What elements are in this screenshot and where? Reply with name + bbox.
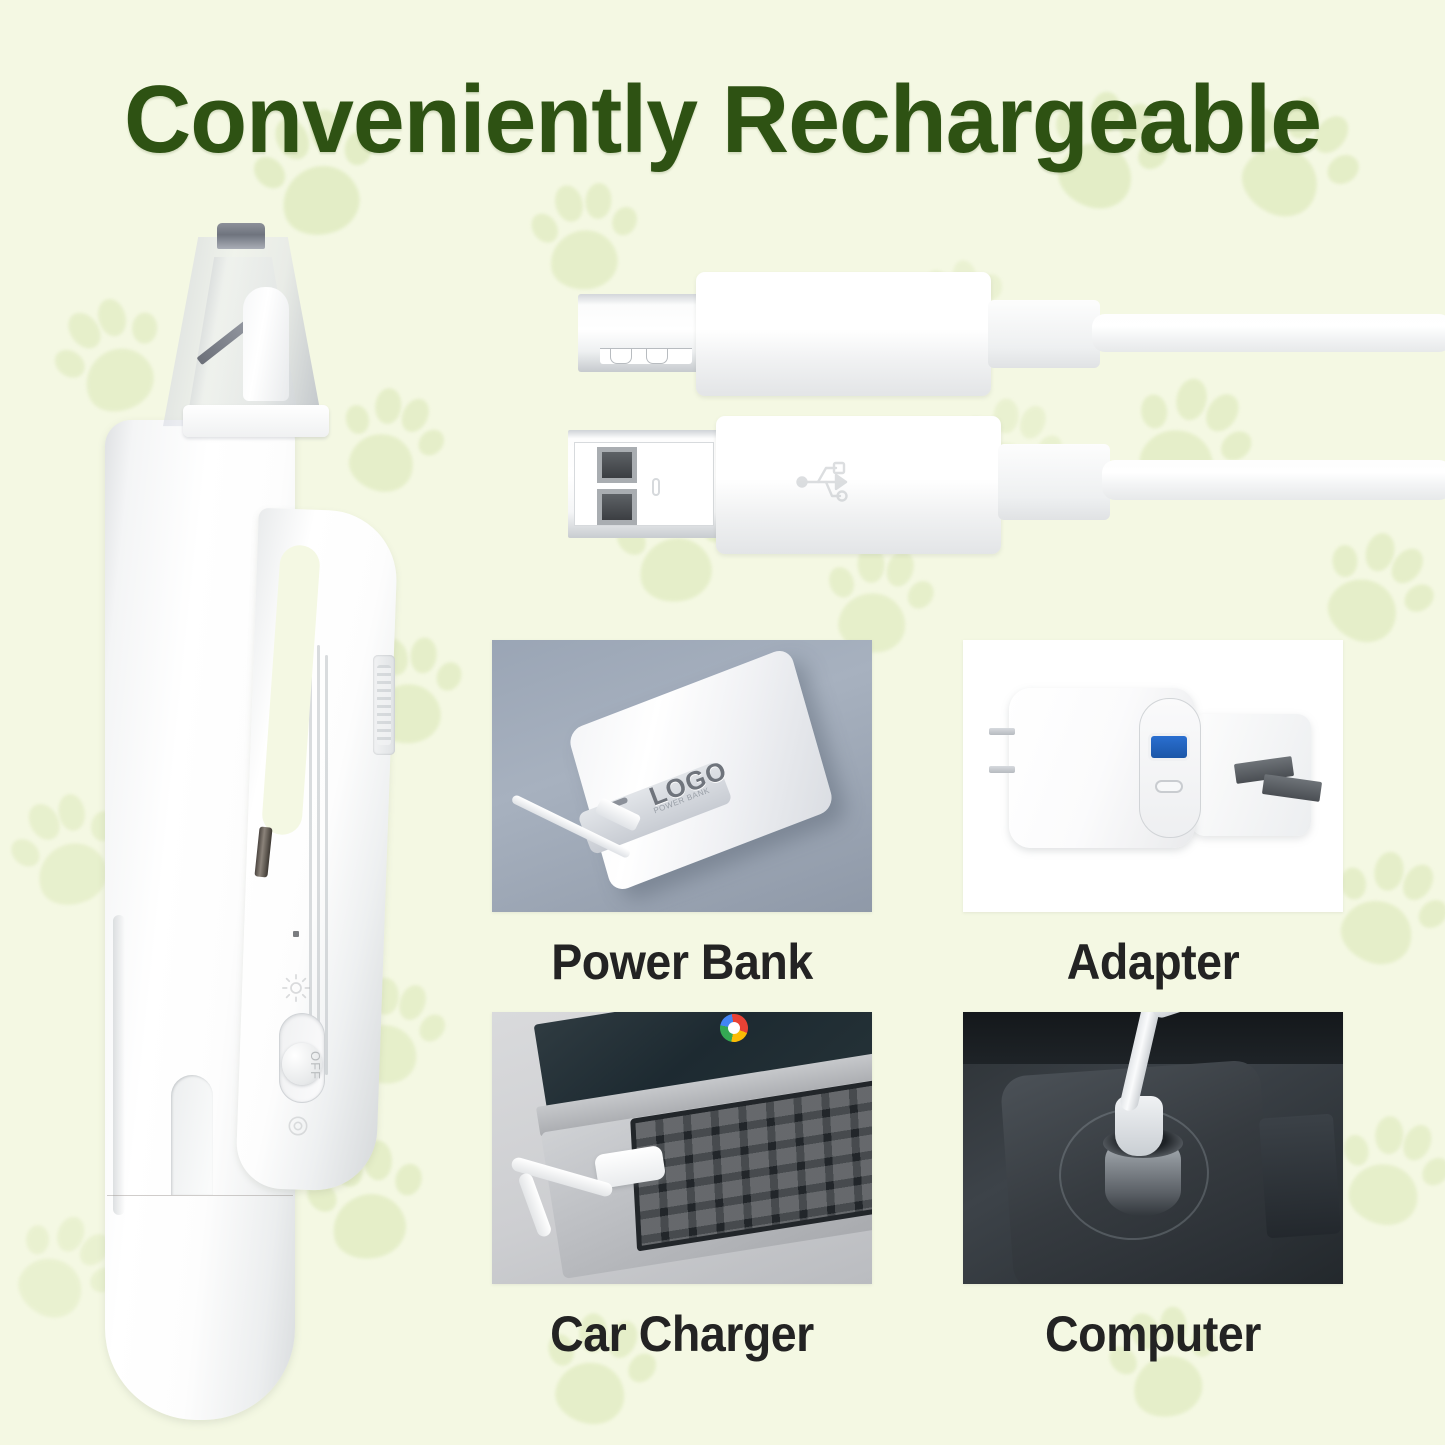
caption-computer: Computer [976,1284,1329,1384]
micro-usb-plug-shell [696,272,991,396]
paw-toe-pad [608,203,641,239]
usb-a-cable [560,416,1445,556]
car-vent [1259,1114,1341,1239]
paw-toe-pad [1341,1132,1372,1168]
adapter-usb-a-port [1151,736,1187,758]
micro-usb-cable [560,268,1445,398]
paw-toe-pad [25,1225,49,1255]
usb-a-wire [1102,460,1445,500]
micro-usb-wire [1092,314,1445,352]
paw-toe-pad [825,564,858,601]
photo-laptop [492,1012,872,1284]
micro-usb-strain-relief [988,300,1100,368]
usb-a-strain-relief [998,444,1110,520]
adapter-pin [989,728,1015,735]
grinder-icon [285,1113,311,1139]
usb-cable-illustration [560,258,1445,563]
paw-toe-pad [1400,579,1439,617]
paw-toe-pad [526,209,563,248]
usb-trident-icon [796,456,860,508]
paw-toe-pad [1413,894,1445,933]
paw-main-pad [8,1247,92,1327]
paw-toe-pad [1339,866,1368,901]
paw-main-pad [1344,1158,1423,1231]
photo-power-bank: LOGO POWER BANK [492,640,872,912]
caption-car-charger: Car Charger [505,1284,858,1384]
paw-toe-pad [1371,849,1406,893]
clipper-body-seam [107,1195,293,1196]
usb-a-metal-tip [568,430,720,538]
paw-toe-pad [902,576,939,614]
photo-adapter [963,640,1343,912]
marketing-image: Conveniently Rechargeable [0,0,1445,1445]
usb-a-contact [602,494,632,520]
paw-toe-pad [584,182,612,220]
page-title: Conveniently Rechargeable [22,72,1424,168]
paw-main-pad [1333,892,1419,973]
clipper-guard-nub [243,287,289,401]
adapter-usb-c-port [1155,780,1183,793]
lever-thumb-grip [373,655,395,755]
adapter-pin [989,766,1015,773]
clipper-head-knob [217,223,265,249]
caption-power-bank: Power Bank [505,912,858,1012]
paw-toe-pad [1398,1121,1437,1165]
paw-toe-pad [1416,1152,1445,1190]
paw-print [1328,1103,1445,1239]
paw-toe-pad [551,182,587,225]
usb-a-inner-shell [574,442,714,526]
micro-usb-metal-tip [578,294,700,372]
caption-adapter: Adapter [976,912,1329,1012]
lever-ridge [325,655,328,1075]
charging-options-grid: LOGO POWER BANK Power Bank Adapter [492,640,1343,1340]
product-pet-nail-clipper: OFF [95,215,455,1425]
paw-toe-pad [1396,859,1439,906]
switch-off-label: OFF [308,1051,323,1080]
micro-usb-notch [600,348,692,364]
paw-toe-pad [22,799,65,846]
paw-toe-pad [56,792,88,833]
led-indicator-dot [293,931,299,937]
adapter-port-face [1139,698,1201,838]
usb-a-alignment-slot [652,478,660,496]
light-icon [281,973,311,1003]
usb-a-contact [602,452,632,478]
paw-toe-pad [1374,1115,1404,1155]
photo-car-socket [963,1012,1343,1284]
clipper-body-flute [113,915,125,1215]
paw-toe-pad [6,833,45,872]
paw-toe-pad [50,344,90,383]
clipper-head-lip [183,405,329,437]
clipper-body-slot [171,1075,213,1195]
lever-ridge [317,645,320,1065]
paw-toe-pad [52,1213,89,1256]
